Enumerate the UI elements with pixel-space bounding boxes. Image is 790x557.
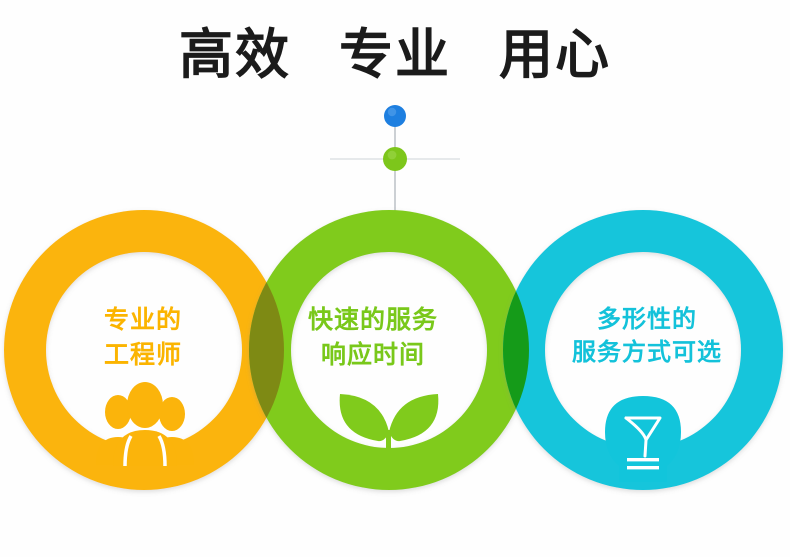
circle-label-response-time: 快速的服务 响应时间: [258, 303, 488, 372]
circle-label-service-options-line1: 多形性的: [597, 305, 697, 333]
green-dot-highlight-icon: [388, 151, 397, 160]
circle-label-response-time-line2: 响应时间: [258, 338, 488, 373]
circle-label-engineers: 专业的 工程师: [28, 303, 258, 372]
headline-word-2: 专业: [339, 28, 451, 82]
poster-canvas: 高效专业用心: [0, 0, 790, 557]
circle-label-engineers-line1: 专业的: [104, 305, 182, 334]
circle-label-service-options-line2: 服务方式可选: [516, 336, 778, 369]
circle-label-service-options: 多形性的 服务方式可选: [516, 303, 778, 369]
circle-label-engineers-line2: 工程师: [28, 338, 258, 373]
page-title: 高效专业用心: [0, 28, 790, 82]
headline-word-3: 用心: [499, 28, 611, 82]
circle-label-response-time-line1: 快速的服务: [308, 305, 438, 334]
blue-dot-icon: [384, 105, 406, 127]
headline-word-1: 高效: [179, 28, 291, 82]
green-dot-icon: [383, 147, 407, 171]
connector-decoration: [0, 95, 790, 215]
blue-dot-highlight-icon: [388, 108, 396, 116]
